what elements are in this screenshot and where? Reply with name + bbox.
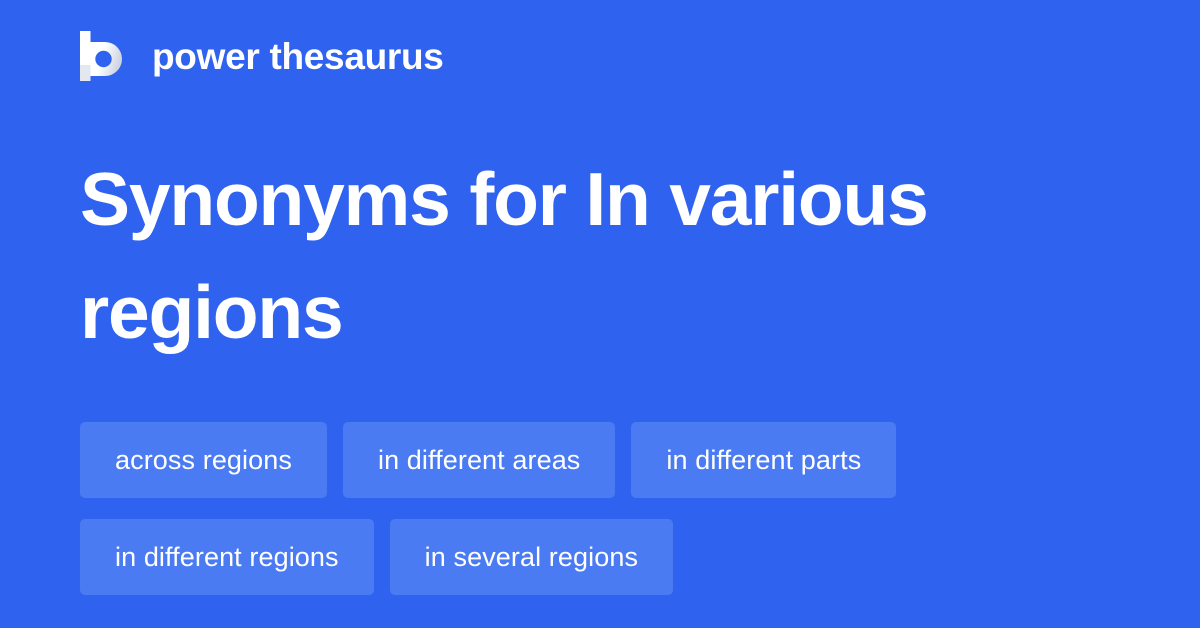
synonym-chip[interactable]: in several regions [390, 519, 673, 595]
synonym-chip-list: across regions in different areas in dif… [80, 422, 1120, 595]
brand-name: power thesaurus [152, 38, 444, 75]
power-thesaurus-b-logo-icon [80, 31, 124, 81]
page-title: Synonyms for In various regions [80, 143, 1080, 369]
synonym-chip[interactable]: in different parts [631, 422, 896, 498]
brand-header[interactable]: power thesaurus [80, 28, 444, 84]
synonym-chip[interactable]: in different regions [80, 519, 374, 595]
social-card: power thesaurus Synonyms for In various … [0, 0, 1200, 628]
synonym-chip[interactable]: in different areas [343, 422, 615, 498]
synonym-chip[interactable]: across regions [80, 422, 327, 498]
